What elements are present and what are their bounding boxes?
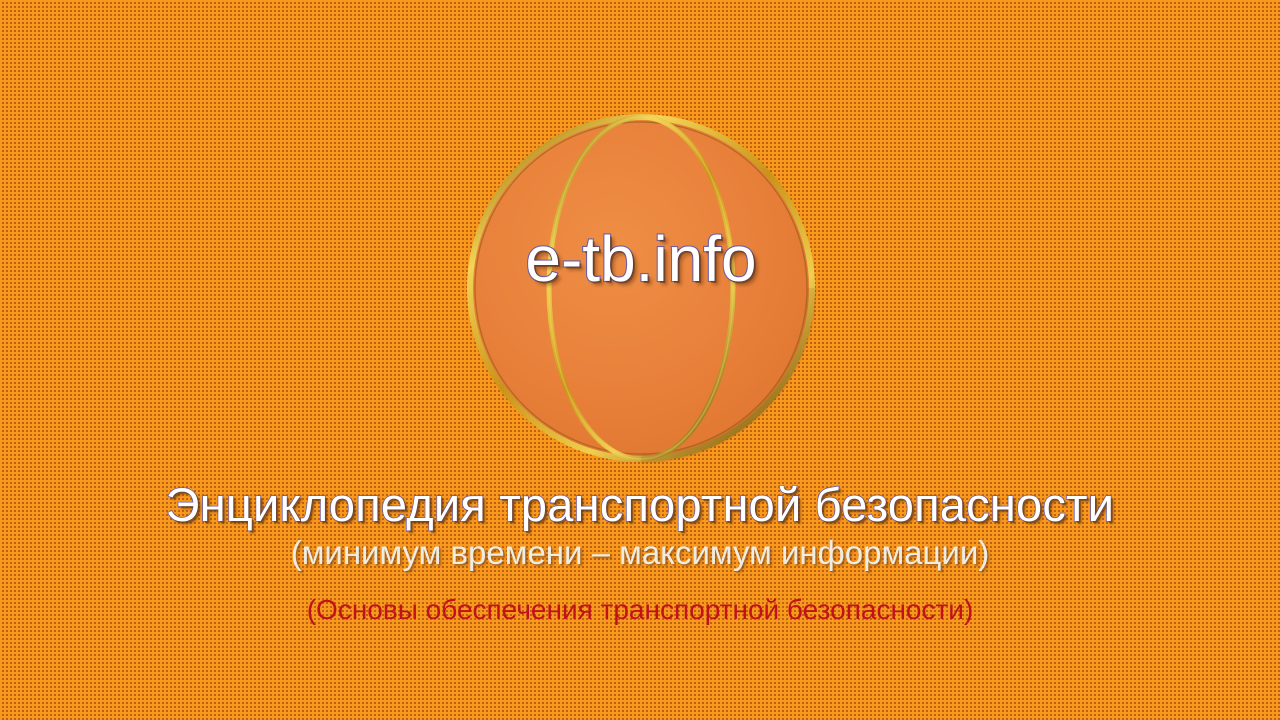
page-title: Энциклопедия транспортной безопасности [0, 478, 1280, 532]
globe-logo: e-tb.info [463, 110, 819, 466]
title-slide: e-tb.info Энциклопедия транспортной безо… [0, 0, 1280, 720]
logo-wordmark: e-tb.info [463, 227, 819, 291]
page-note: (Основы обеспечения транспортной безопас… [0, 593, 1280, 627]
page-subtitle: (минимум времени – максимум информации) [0, 533, 1280, 573]
title-text-block: Энциклопедия транспортной безопасности (… [0, 478, 1280, 627]
